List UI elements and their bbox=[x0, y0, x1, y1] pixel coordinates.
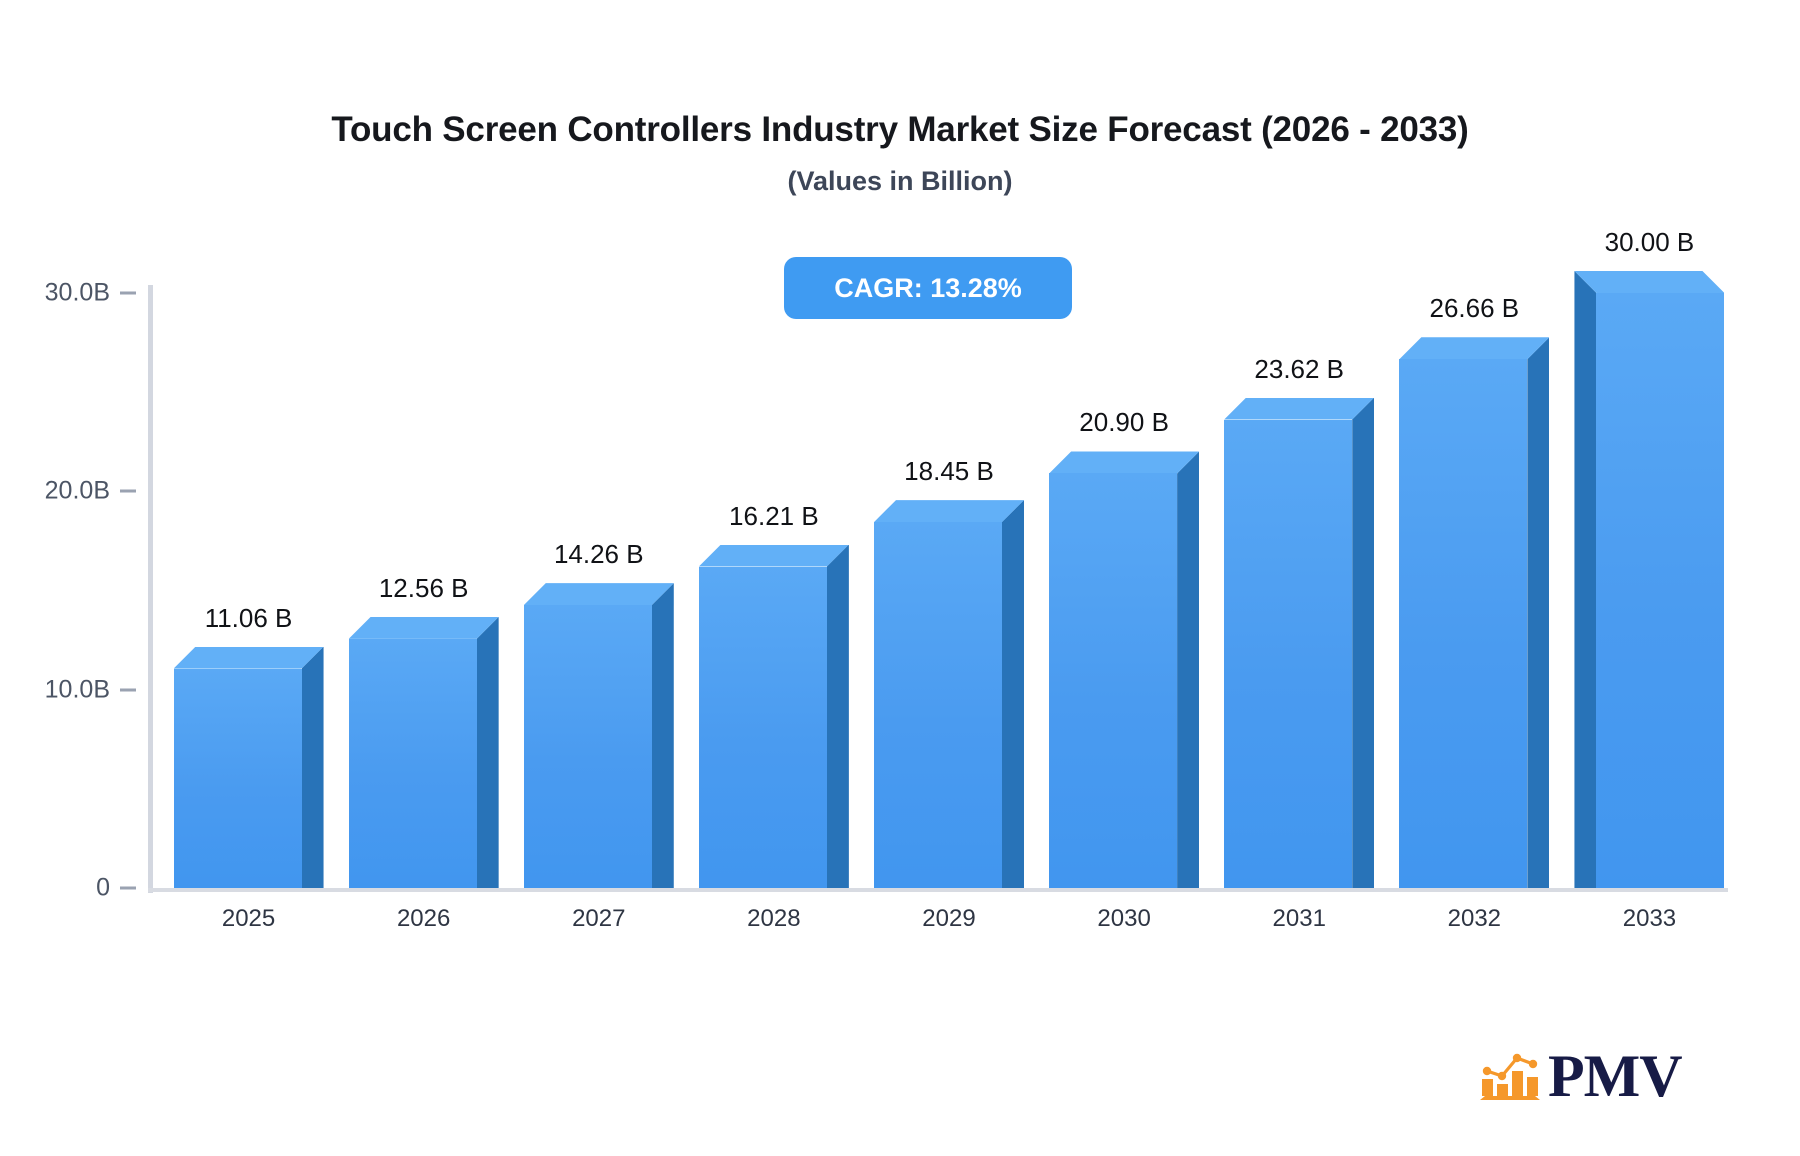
chart-subtitle: (Values in Billion) bbox=[0, 166, 1800, 197]
x-axis-line bbox=[148, 888, 1728, 892]
x-axis-tick-label: 2029 bbox=[922, 905, 975, 933]
bar-value-label: 30.00 B bbox=[1605, 227, 1695, 258]
y-axis-tick-label: 0 bbox=[96, 874, 110, 903]
bar-top-face bbox=[1574, 271, 1724, 293]
x-axis-tick-label: 2030 bbox=[1097, 905, 1150, 933]
bar-top-face bbox=[349, 617, 499, 639]
x-axis-tick-label: 2025 bbox=[222, 905, 275, 933]
x-axis-tick-label: 2028 bbox=[747, 905, 800, 933]
x-axis-tick-label: 2033 bbox=[1623, 905, 1676, 933]
bar-front-face bbox=[1596, 293, 1724, 888]
bar[interactable] bbox=[524, 583, 674, 888]
bar-side-face bbox=[1177, 451, 1199, 888]
y-axis-tick-label: 20.0B bbox=[45, 477, 110, 506]
bar-side-face bbox=[477, 617, 499, 888]
cagr-badge-label: CAGR: 13.28% bbox=[834, 273, 1022, 304]
bar-top-face bbox=[699, 545, 849, 567]
y-axis-tick-mark bbox=[120, 490, 136, 493]
bar-side-face bbox=[652, 583, 674, 888]
bar-value-label: 16.21 B bbox=[729, 501, 819, 532]
bar-front-face bbox=[524, 605, 652, 888]
y-axis-tick-label: 30.0B bbox=[45, 279, 110, 308]
bar-side-face bbox=[1352, 398, 1374, 888]
bar-front-face bbox=[174, 669, 302, 888]
y-axis-tick-mark bbox=[120, 688, 136, 691]
bar-value-label: 18.45 B bbox=[904, 456, 994, 487]
bar-front-face bbox=[874, 522, 1002, 888]
cagr-badge: CAGR: 13.28% bbox=[784, 257, 1072, 319]
bar-top-face bbox=[1399, 337, 1549, 359]
bar[interactable] bbox=[1224, 398, 1374, 888]
bar[interactable] bbox=[1049, 451, 1199, 888]
bar-front-face bbox=[349, 639, 477, 888]
bar-front-face bbox=[1224, 420, 1352, 888]
y-axis-line bbox=[148, 285, 153, 893]
chart-canvas: Touch Screen Controllers Industry Market… bbox=[0, 0, 1800, 1156]
bar-value-label: 14.26 B bbox=[554, 539, 644, 570]
bar[interactable] bbox=[1574, 271, 1724, 888]
bar-value-label: 23.62 B bbox=[1254, 354, 1344, 385]
bar-value-label: 11.06 B bbox=[205, 603, 293, 634]
pmv-logo: PMV bbox=[1478, 1040, 1700, 1112]
x-axis-tick-label: 2026 bbox=[397, 905, 450, 933]
bar[interactable] bbox=[874, 500, 1024, 888]
chart-title: Touch Screen Controllers Industry Market… bbox=[0, 110, 1800, 150]
bar[interactable] bbox=[174, 647, 324, 888]
bar-top-face bbox=[524, 583, 674, 605]
bar[interactable] bbox=[1399, 337, 1549, 888]
bar-top-face bbox=[174, 647, 324, 669]
bar-value-label: 12.56 B bbox=[379, 573, 469, 604]
bar-side-face bbox=[302, 647, 324, 888]
y-axis-tick-mark bbox=[120, 292, 136, 295]
bar-front-face bbox=[1399, 359, 1527, 888]
pmv-logo-text: PMV bbox=[1548, 1046, 1682, 1106]
bar-value-label: 26.66 B bbox=[1430, 293, 1520, 324]
bar[interactable] bbox=[349, 617, 499, 888]
bar-top-face bbox=[874, 500, 1024, 522]
bar-value-label: 20.90 B bbox=[1079, 407, 1169, 438]
bar-side-face bbox=[1527, 337, 1549, 888]
x-axis-tick-label: 2031 bbox=[1273, 905, 1326, 933]
y-axis-tick-label: 10.0B bbox=[45, 675, 110, 704]
x-axis-tick-label: 2032 bbox=[1448, 905, 1501, 933]
bar-side-face bbox=[827, 545, 849, 888]
x-axis-tick-label: 2027 bbox=[572, 905, 625, 933]
bar-front-face bbox=[1049, 473, 1177, 888]
bar-side-face bbox=[1574, 271, 1596, 888]
bar-front-face bbox=[699, 567, 827, 888]
bar[interactable] bbox=[699, 545, 849, 888]
bar-top-face bbox=[1049, 451, 1199, 473]
bar-chart-logo-icon bbox=[1478, 1047, 1542, 1105]
y-axis-tick-mark bbox=[120, 887, 136, 890]
bar-side-face bbox=[1002, 500, 1024, 888]
bar-top-face bbox=[1224, 398, 1374, 420]
